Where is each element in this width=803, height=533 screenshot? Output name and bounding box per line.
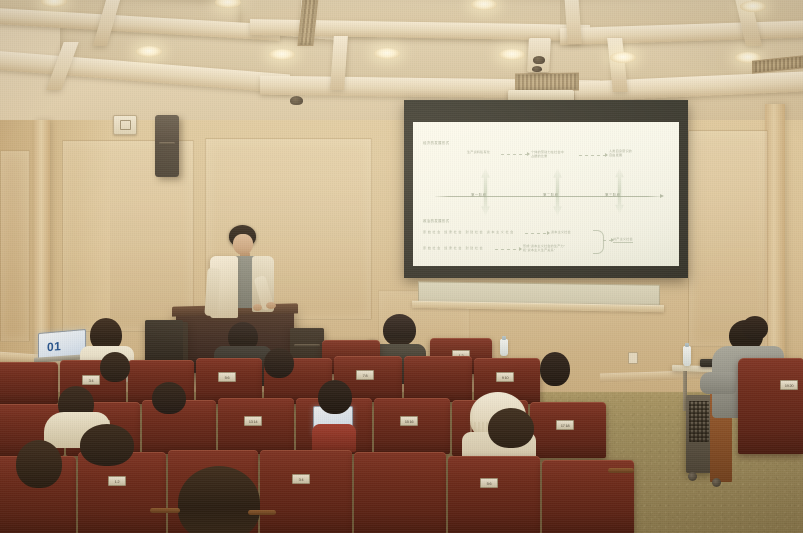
slide-connector bbox=[501, 154, 527, 155]
seat-number-plate: 13 14 bbox=[244, 416, 262, 426]
slide-connector bbox=[579, 155, 605, 156]
seat-back[interactable] bbox=[404, 356, 472, 402]
seat-back[interactable] bbox=[218, 398, 294, 454]
seat-number-plate: 19 20 bbox=[780, 380, 798, 390]
audience-head bbox=[488, 408, 534, 448]
wall-panel bbox=[688, 130, 768, 347]
seat-number-plate: 9 10 bbox=[496, 372, 514, 382]
audience-head bbox=[80, 424, 134, 466]
water-bottle bbox=[683, 346, 691, 366]
av-equipment-cart bbox=[686, 395, 712, 473]
audience-head bbox=[540, 352, 570, 386]
lecture-hall-photo: 经济的发展形式 生产资料私有化 个体的劳动力在社会中 占据的比重 人类自身意识的… bbox=[0, 0, 803, 533]
seat-number-plate: 3 4 bbox=[292, 474, 310, 484]
ceiling-downlight bbox=[740, 1, 766, 12]
slide-top-label-2: 人类自身意识的 自由发展 bbox=[609, 149, 655, 157]
wall-mounted-speaker bbox=[155, 115, 179, 177]
speaker-grille-icon bbox=[159, 142, 175, 145]
ceiling-downlight bbox=[374, 48, 400, 59]
seat-back[interactable] bbox=[448, 456, 540, 533]
seat-right-block[interactable] bbox=[738, 358, 803, 454]
cart-caster bbox=[712, 478, 721, 487]
slide-node-1: 第二阶段 bbox=[543, 192, 559, 197]
slide-connector bbox=[525, 233, 547, 234]
seat-back[interactable] bbox=[354, 452, 446, 533]
slide-bottom-row-1: 原始社会 奴隶社会 封建社会 资本主义社会 bbox=[423, 230, 515, 234]
ceiling-dome-camera-icon bbox=[290, 96, 303, 105]
ceiling-downlight bbox=[269, 49, 295, 60]
seat-number-plate: 17 18 bbox=[556, 420, 574, 430]
seat-armrest bbox=[248, 510, 276, 515]
ceiling-sensor-icon bbox=[533, 56, 545, 64]
audience-head bbox=[264, 348, 294, 378]
seat-number-plate: 3 4 bbox=[82, 375, 100, 385]
ceiling-downlight bbox=[136, 46, 162, 57]
slide-conclusion: 共产主义社会 bbox=[613, 237, 633, 243]
ceiling-downlight bbox=[610, 52, 636, 63]
audience-head bbox=[100, 352, 130, 382]
presentation-slide: 经济的发展形式 生产资料私有化 个体的劳动力在社会中 占据的比重 人类自身意识的… bbox=[413, 122, 679, 266]
audience-head bbox=[16, 440, 62, 488]
speaker-grille-icon bbox=[294, 344, 320, 347]
ceiling-sensor-icon bbox=[532, 66, 542, 72]
slide-heading-top: 经济的发展形式 bbox=[423, 140, 450, 145]
seat-back[interactable] bbox=[78, 452, 166, 533]
wall-panel bbox=[0, 150, 30, 342]
slide-node-0: 第一阶段 bbox=[471, 192, 487, 197]
presenter-hand bbox=[253, 304, 262, 311]
seat-back[interactable] bbox=[530, 402, 606, 458]
ceiling-air-vent bbox=[515, 72, 579, 91]
slide-heading-bottom: 政治的发展形式 bbox=[423, 218, 450, 223]
seat-number-plate: 15 16 bbox=[400, 416, 418, 426]
seat-number-plate: 1 2 bbox=[108, 476, 126, 486]
wall-outlet bbox=[628, 352, 638, 364]
wall-control-panel[interactable] bbox=[113, 115, 137, 135]
av-monitor bbox=[145, 320, 183, 364]
audience-head bbox=[383, 314, 416, 346]
seat-back[interactable] bbox=[374, 398, 450, 454]
cart-caster bbox=[688, 472, 697, 481]
audience-head bbox=[742, 316, 768, 340]
presenter-hand bbox=[266, 302, 276, 309]
seat-armrest bbox=[608, 468, 634, 473]
seat-number-plate: 5 6 bbox=[218, 372, 236, 382]
slide-top-label-1: 个体的劳动力在社会中 占据的比重 bbox=[531, 150, 583, 158]
slide-node-2: 第三阶段 bbox=[605, 192, 621, 197]
projection-screen: 经济的发展形式 生产资料私有化 个体的劳动力在社会中 占据的比重 人类自身意识的… bbox=[413, 122, 679, 266]
seat-armrest bbox=[150, 508, 180, 513]
slide-bottom-row-1-target: 资本主义社会 bbox=[551, 230, 571, 234]
slide-top-label-0: 生产资料私有化 bbox=[467, 150, 490, 154]
audience-head bbox=[318, 380, 352, 414]
water-bottle bbox=[500, 339, 508, 356]
audience-body-red bbox=[312, 424, 356, 452]
attendee-arm bbox=[700, 372, 736, 394]
slide-bottom-row-2: 原始社会 奴隶社会 封建社会 bbox=[423, 246, 484, 250]
projection-screen-frame: 经济的发展形式 生产资料私有化 个体的劳动力在社会中 占据的比重 人类自身意识的… bbox=[404, 100, 688, 278]
slide-connector bbox=[495, 249, 519, 250]
seat-number-plate: 5 6 bbox=[480, 478, 498, 488]
audience-head bbox=[152, 382, 186, 414]
wall-column bbox=[765, 104, 785, 374]
slide-brace bbox=[593, 230, 604, 254]
seat-back[interactable] bbox=[0, 362, 58, 404]
slide-vertical-arrow bbox=[615, 168, 624, 214]
slide-connector bbox=[603, 240, 611, 241]
seat-number-plate: 7 8 bbox=[356, 370, 374, 380]
ceiling-downlight bbox=[499, 49, 525, 60]
ceiling-beam-cross bbox=[564, 0, 581, 44]
slide-bottom-row-2-note: 形成“资本主义社会的生产力” 和“资本主义生产关系” bbox=[523, 244, 581, 252]
cart-mesh-panel bbox=[689, 401, 710, 442]
laptop-screen-text: 01 bbox=[47, 339, 61, 354]
audience-head-front bbox=[178, 466, 260, 533]
seat-back[interactable] bbox=[260, 450, 352, 533]
